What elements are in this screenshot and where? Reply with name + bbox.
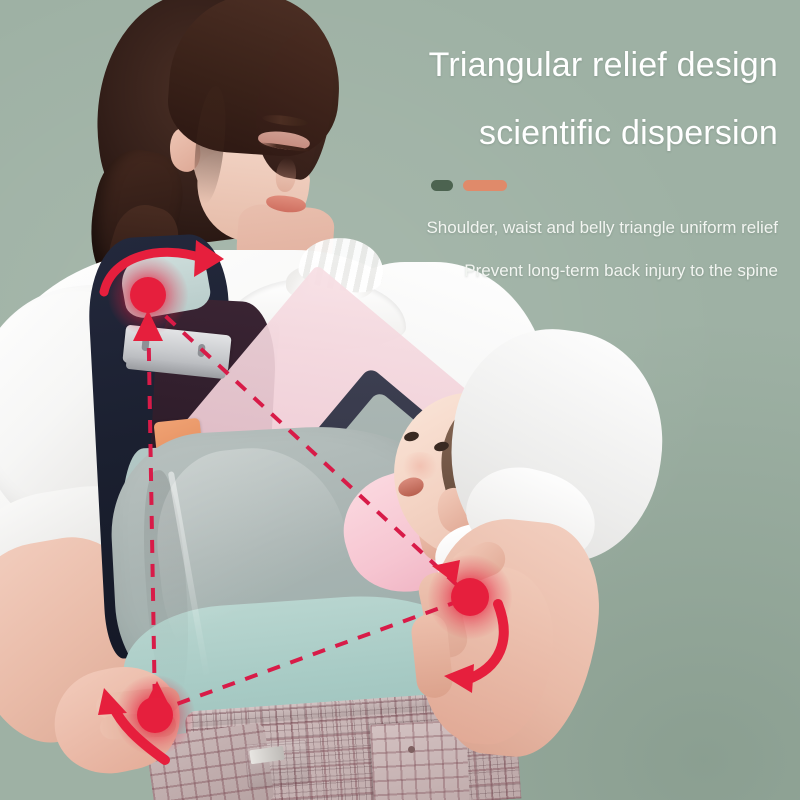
shoulder-pressure-point[interactable] <box>130 277 166 313</box>
subtitle-line-2: Prevent long-term back injury to the spi… <box>308 262 778 279</box>
headline-line-1: Triangular relief design <box>308 48 778 82</box>
triangle-edge-shoulder-to-belly <box>148 300 155 712</box>
decorative-divider <box>308 180 778 191</box>
headline-line-2: scientific dispersion <box>308 116 778 150</box>
divider-dash-green <box>431 180 453 191</box>
triangle-edge-belly-to-waist <box>155 597 470 712</box>
waist-pressure-point[interactable] <box>451 578 489 616</box>
force-triangle-dashed <box>148 300 470 712</box>
product-feature-banner: Triangular relief design scientific disp… <box>0 0 800 800</box>
divider-dash-orange <box>463 180 507 191</box>
subtitle-line-1: Shoulder, waist and belly triangle unifo… <box>308 219 778 236</box>
triangle-edge-shoulder-to-waist <box>148 300 470 597</box>
marketing-copy: Triangular relief design scientific disp… <box>308 48 778 279</box>
belly-pressure-point[interactable] <box>137 697 173 733</box>
